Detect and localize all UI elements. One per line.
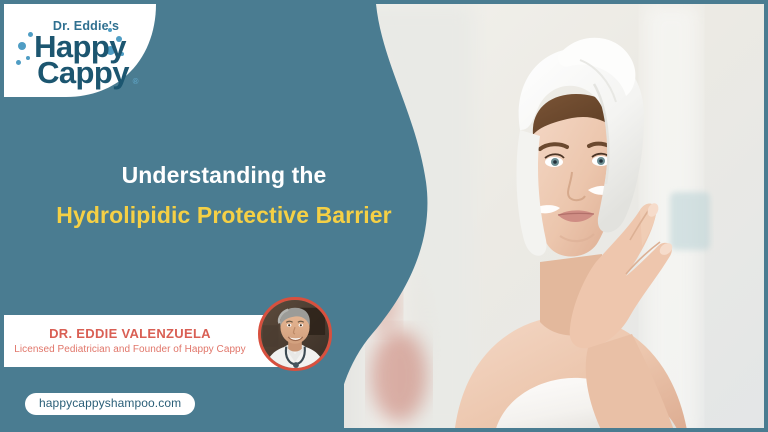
presenter-role: Licensed Pediatrician and Founder of Hap… [14, 344, 245, 356]
presenter-name: DR. EDDIE VALENZUELA [49, 326, 211, 342]
headline-line-2: Hydrolipidic Protective Barrier [4, 200, 444, 231]
presenter-band: DR. EDDIE VALENZUELA Licensed Pediatrici… [4, 315, 294, 367]
logo-word-cappy: Cappy ® [37, 60, 129, 87]
logo-word-cappy-text: Cappy [37, 55, 129, 90]
avatar-image [261, 300, 329, 368]
website-pill[interactable]: happycappyshampoo.com [25, 393, 195, 415]
promo-slide: Dr. Eddie's Happy Cappy ® Understanding … [0, 0, 768, 432]
registered-mark: ® [133, 79, 138, 86]
headline-block: Understanding the Hydrolipidic Protectiv… [4, 160, 444, 231]
avatar [258, 297, 332, 371]
presenter-text: DR. EDDIE VALENZUELA Licensed Pediatrici… [4, 315, 256, 367]
brand-logo[interactable]: Dr. Eddie's Happy Cappy ® [4, 4, 164, 99]
headline-line-1: Understanding the [4, 160, 444, 191]
